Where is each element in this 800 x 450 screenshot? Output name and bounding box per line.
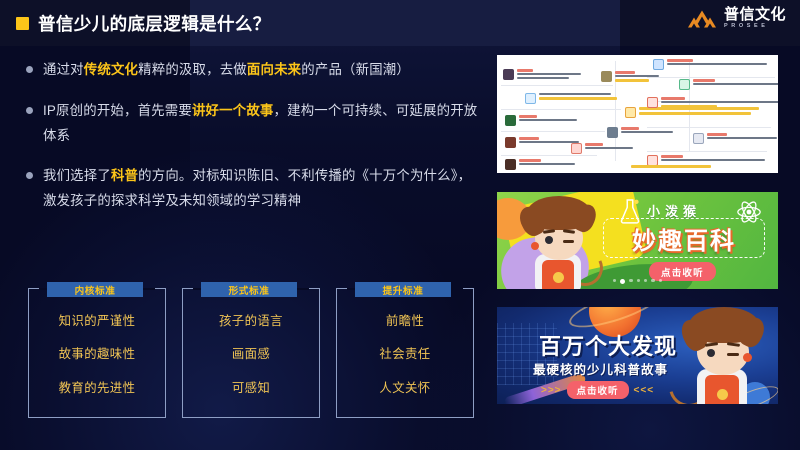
slide-canvas: 普信少儿的底层逻辑是什么？ 普信文化 PROSEE 通过对传统文化精粹的汲取，去… bbox=[0, 0, 800, 450]
comments-screenshot-image bbox=[497, 55, 778, 173]
comment-item bbox=[625, 107, 759, 118]
avatar bbox=[601, 71, 612, 82]
comment-body bbox=[707, 133, 777, 139]
carousel-dot[interactable] bbox=[637, 279, 640, 282]
monkey-mascot-icon bbox=[515, 198, 607, 289]
brand-logo-words: 普信文化 PROSEE bbox=[724, 7, 786, 30]
bullet-text: 我们选择了科普的方向。对标知识陈旧、不利传播的《十万个为什么》，激发孩子的探求科… bbox=[43, 164, 478, 214]
comment-body bbox=[585, 143, 633, 149]
brand-name-en: PROSEE bbox=[724, 23, 786, 31]
box-notch-right bbox=[295, 288, 309, 290]
criteria-item: 人文关怀 bbox=[337, 382, 473, 394]
brand-logo: 普信文化 PROSEE bbox=[687, 7, 786, 30]
bullet-list: 通过对传统文化精粹的汲取，去做面向未来的产品（新国潮） IP原创的开始，首先需要… bbox=[26, 58, 478, 230]
avatar bbox=[525, 93, 536, 104]
avatar bbox=[607, 127, 618, 138]
avatar bbox=[653, 59, 664, 70]
square-bullet-icon bbox=[16, 17, 29, 30]
bullet-highlight: 讲好一个故事 bbox=[192, 103, 274, 118]
criteria-item: 前瞻性 bbox=[337, 315, 473, 327]
brand-name-cn: 普信文化 bbox=[724, 7, 786, 23]
green-banner-image[interactable]: 小泼猴 妙趣百科 点击收听 bbox=[497, 192, 778, 289]
criteria-box-header: 提升标准 bbox=[355, 282, 451, 297]
comment-body bbox=[615, 71, 659, 82]
bullet-dot-icon bbox=[26, 107, 33, 114]
comment-item bbox=[505, 137, 579, 148]
space-banner-title: 百万个大发现 bbox=[539, 329, 677, 361]
comment-body bbox=[517, 69, 581, 79]
list-item: 通过对传统文化精粹的汲取，去做面向未来的产品（新国潮） bbox=[26, 58, 478, 83]
bullet-text: 通过对传统文化精粹的汲取，去做面向未来的产品（新国潮） bbox=[43, 58, 410, 83]
comment-body bbox=[621, 127, 673, 133]
criteria-box-uplift: 提升标准 前瞻性 社会责任 人文关怀 bbox=[336, 288, 474, 418]
criteria-item: 可感知 bbox=[183, 382, 319, 394]
comment-body bbox=[661, 155, 765, 161]
bullet-dot-icon bbox=[26, 66, 33, 73]
comment-body bbox=[519, 159, 575, 165]
comment-body bbox=[539, 93, 617, 100]
carousel-dots[interactable] bbox=[497, 279, 778, 284]
header-bar: 普信少儿的底层逻辑是什么？ 普信文化 PROSEE bbox=[0, 0, 800, 46]
carousel-dot[interactable] bbox=[613, 279, 616, 282]
bullet-highlight: 科普 bbox=[111, 168, 138, 183]
bullet-highlight: 传统文化 bbox=[84, 62, 138, 77]
bullet-segment: IP原创的开始，首先需要 bbox=[43, 103, 192, 118]
bullet-segment: 通过对 bbox=[43, 62, 84, 77]
criteria-item: 知识的严谨性 bbox=[29, 315, 165, 327]
bullet-dot-icon bbox=[26, 172, 33, 179]
space-banner-image[interactable]: 百万个大发现 最硬核的少儿科普故事 >>> 点击收听 <<< bbox=[497, 307, 778, 404]
comment-body bbox=[693, 79, 778, 85]
green-banner-title: 妙趣百科 bbox=[607, 219, 761, 257]
criteria-item: 社会责任 bbox=[337, 348, 473, 360]
comment-body bbox=[519, 137, 579, 143]
comment-item bbox=[505, 115, 577, 126]
space-banner-cta-button[interactable]: 点击收听 bbox=[567, 381, 629, 399]
space-banner-subtitle: 最硬核的少儿科普故事 bbox=[533, 359, 668, 378]
carousel-dot-active[interactable] bbox=[620, 279, 625, 284]
avatar bbox=[693, 133, 704, 144]
mountain-chevron-icon bbox=[687, 8, 717, 30]
criteria-item: 孩子的语言 bbox=[183, 315, 319, 327]
avatar bbox=[679, 79, 690, 90]
comment-item bbox=[503, 69, 581, 80]
bullet-segment: 的产品（新国潮） bbox=[301, 62, 410, 77]
comment-item bbox=[571, 143, 633, 154]
criteria-item: 教育的先进性 bbox=[29, 382, 165, 394]
avatar bbox=[505, 137, 516, 148]
comment-item bbox=[647, 97, 778, 108]
comment-item bbox=[679, 79, 778, 90]
comment-item bbox=[607, 127, 673, 138]
monkey-mascot-icon bbox=[665, 311, 769, 404]
criteria-box-header: 形式标准 bbox=[201, 282, 297, 297]
comment-body bbox=[667, 59, 767, 65]
bullet-segment: 我们选择了 bbox=[43, 168, 111, 183]
criteria-item: 画面感 bbox=[183, 348, 319, 360]
comment-body bbox=[519, 115, 577, 121]
comment-item bbox=[505, 159, 575, 170]
bullet-highlight: 面向未来 bbox=[247, 62, 301, 77]
box-notch-right bbox=[449, 288, 463, 290]
criteria-box-form: 形式标准 孩子的语言 画面感 可感知 bbox=[182, 288, 320, 418]
avatar bbox=[571, 143, 582, 154]
comment-item bbox=[693, 133, 777, 144]
comment-body bbox=[661, 97, 778, 108]
avatar bbox=[505, 115, 516, 126]
criteria-box-header: 内核标准 bbox=[47, 282, 143, 297]
arrows-left-icon: <<< bbox=[634, 385, 655, 396]
arrows-right-icon: >>> bbox=[541, 385, 562, 396]
avatar bbox=[503, 69, 514, 80]
carousel-dot[interactable] bbox=[659, 279, 662, 282]
avatar bbox=[625, 107, 636, 118]
comment-item bbox=[653, 59, 767, 70]
avatar bbox=[505, 159, 516, 170]
list-item: IP原创的开始，首先需要讲好一个故事，建构一个可持续、可延展的开放体系 bbox=[26, 99, 478, 149]
carousel-dot[interactable] bbox=[629, 279, 632, 282]
criteria-box-core: 内核标准 知识的严谨性 故事的趣味性 教育的先进性 bbox=[28, 288, 166, 418]
carousel-dot[interactable] bbox=[651, 279, 654, 282]
bullet-segment: 精粹的汲取，去做 bbox=[138, 62, 247, 77]
page-title-text: 普信少儿的底层逻辑是什么？ bbox=[38, 11, 271, 36]
comment-item bbox=[601, 71, 659, 82]
bullet-text: IP原创的开始，首先需要讲好一个故事，建构一个可持续、可延展的开放体系 bbox=[43, 99, 478, 149]
criteria-box-group: 内核标准 知识的严谨性 故事的趣味性 教育的先进性 形式标准 孩子的语言 画面感… bbox=[28, 288, 474, 418]
space-banner-cta-row[interactable]: >>> 点击收听 <<< bbox=[541, 381, 654, 399]
box-notch-right bbox=[141, 288, 155, 290]
avatar bbox=[647, 97, 658, 108]
list-item: 我们选择了科普的方向。对标知识陈旧、不利传播的《十万个为什么》，激发孩子的探求科… bbox=[26, 164, 478, 214]
carousel-dot[interactable] bbox=[644, 279, 647, 282]
criteria-item: 故事的趣味性 bbox=[29, 348, 165, 360]
page-title: 普信少儿的底层逻辑是什么？ bbox=[16, 0, 271, 46]
comment-item bbox=[525, 93, 617, 104]
